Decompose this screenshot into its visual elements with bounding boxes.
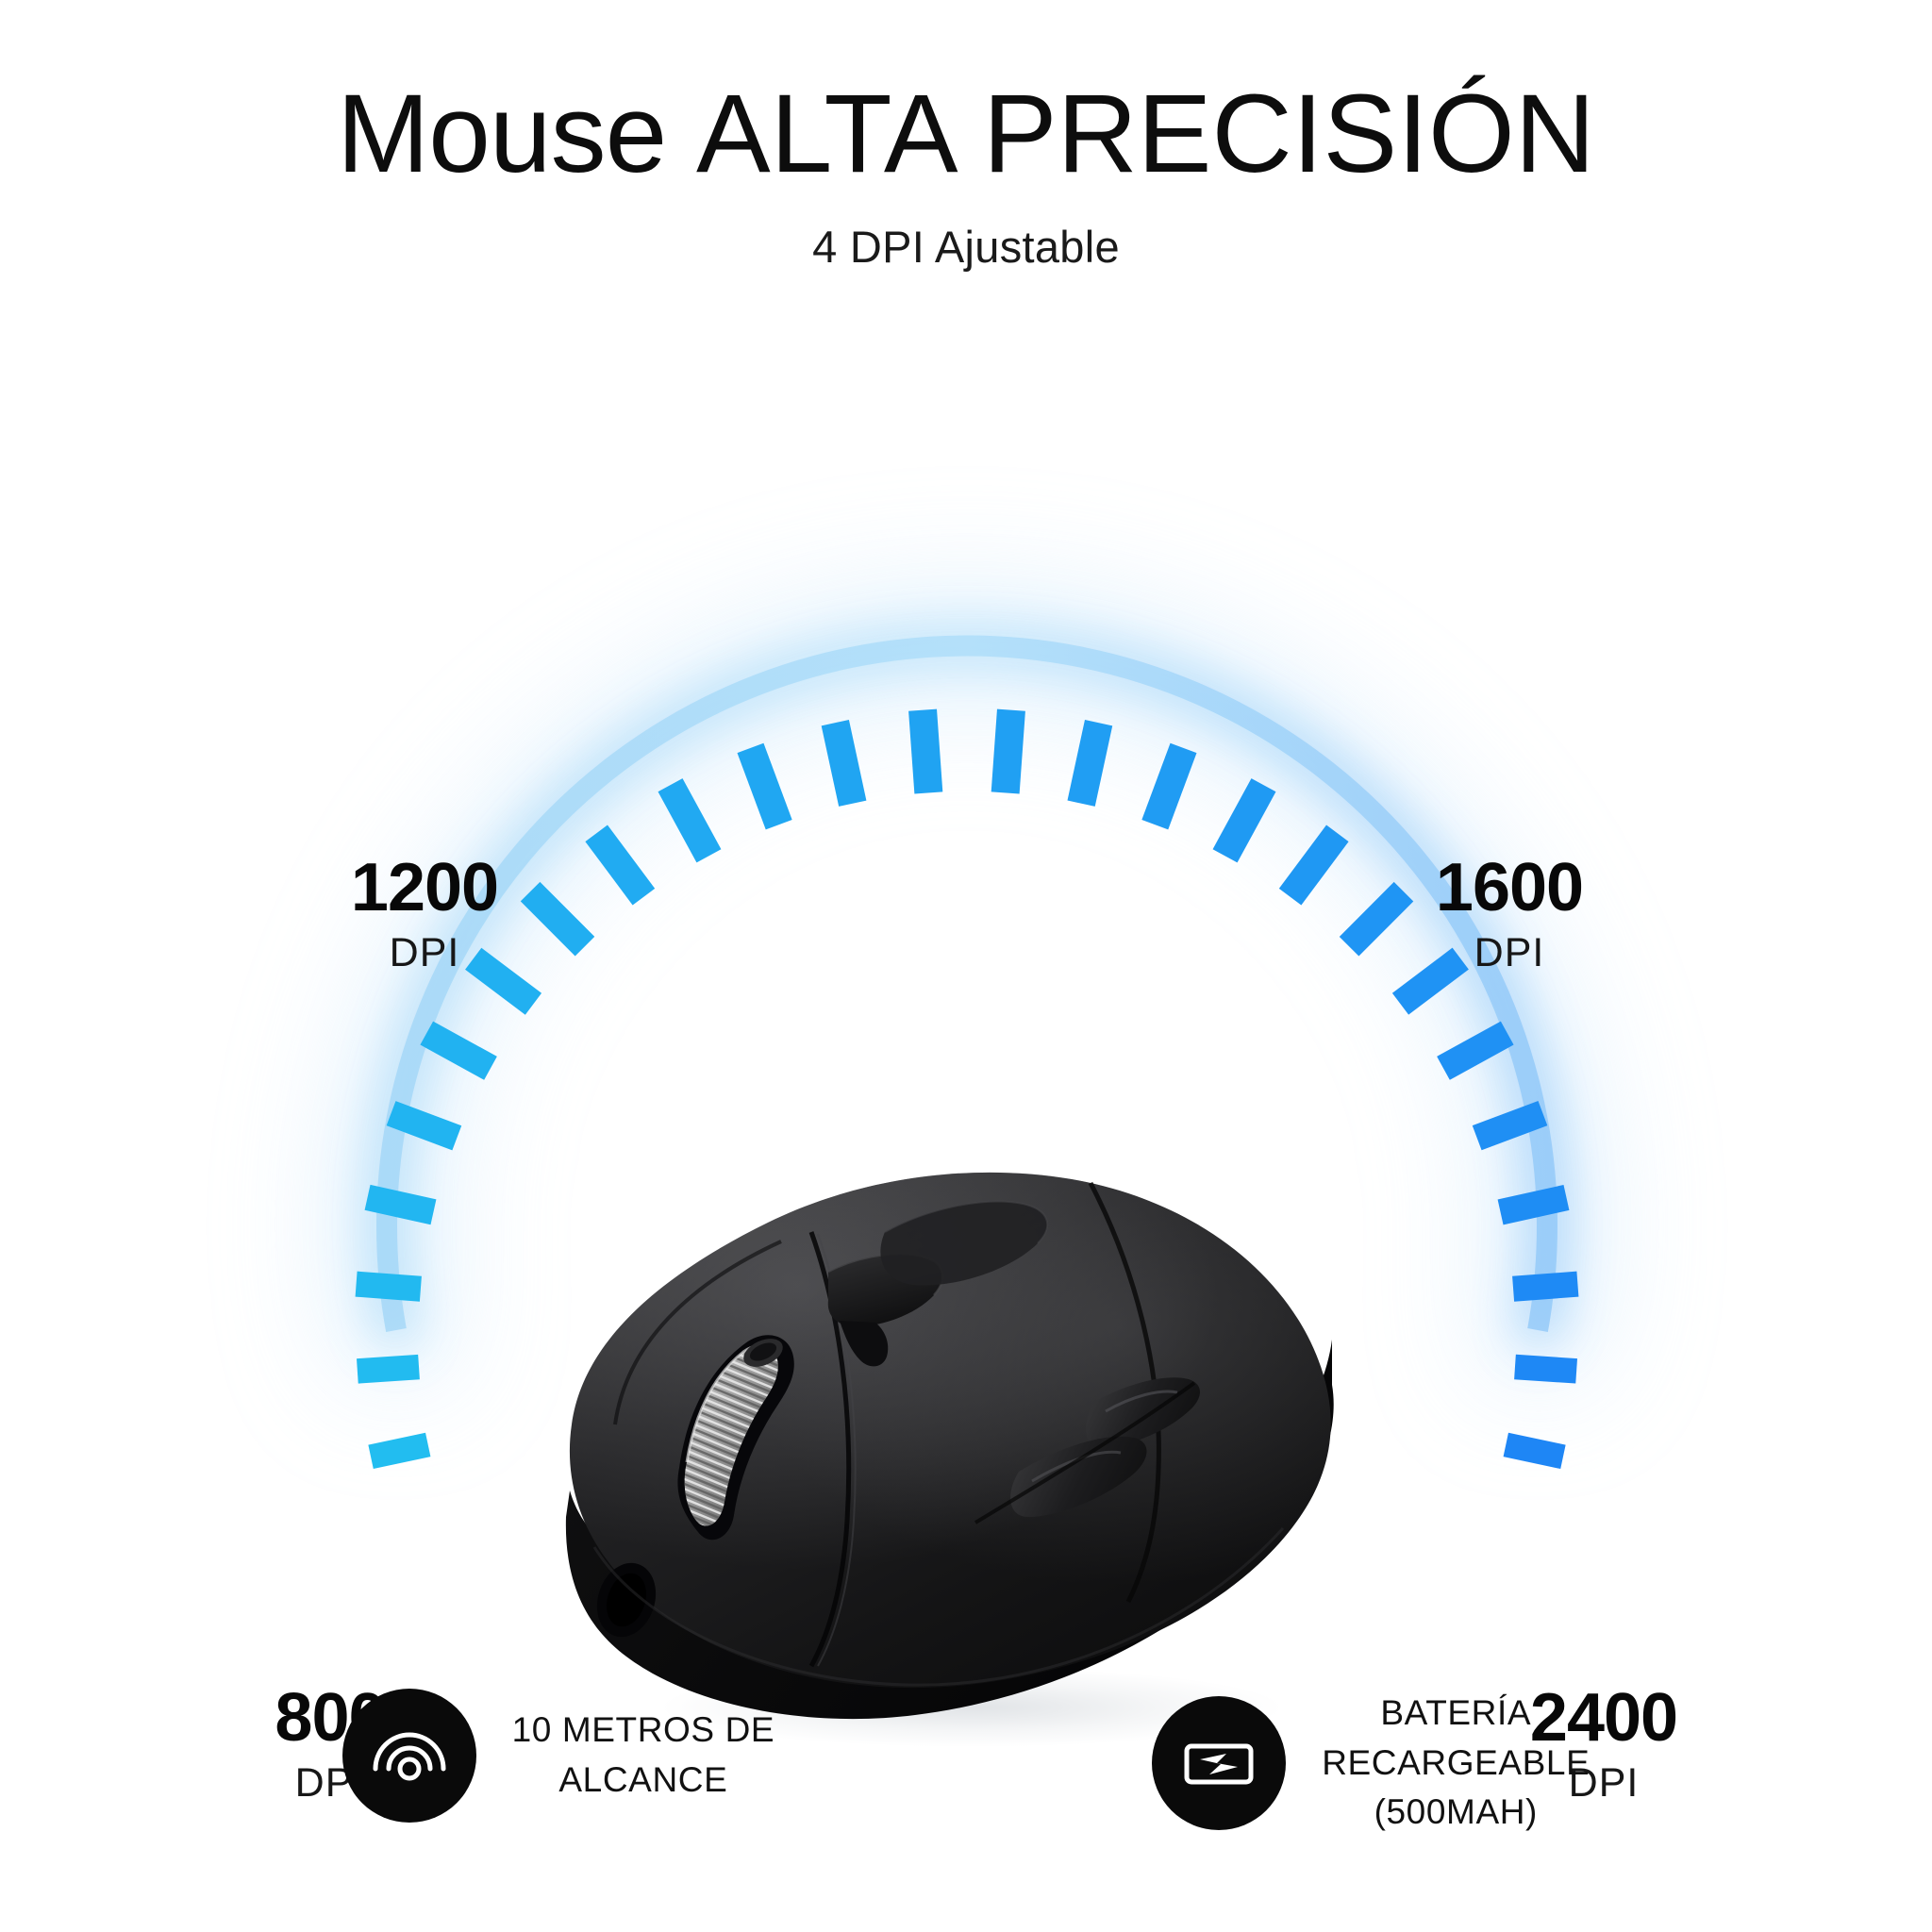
arc-tick-23 <box>1512 1272 1578 1302</box>
arc-tick-0 <box>368 1433 430 1469</box>
infographic-page: Mouse ALTA PRECISIÓN 4 DPI Ajustable <box>0 0 1932 1932</box>
feature-battery-text: BATERÍA RECARGEABLE (500MAH) <box>1322 1689 1590 1838</box>
arc-tick-1 <box>357 1355 420 1384</box>
feature-range: 10 METROS DE ALCANCE <box>342 1689 775 1823</box>
arc-tick-24 <box>1514 1355 1577 1384</box>
dpi-dial: 1200 DPI 1600 DPI 800 DPI 2400 DPI <box>0 311 1932 1594</box>
battery-bolt-icon <box>1152 1696 1286 1830</box>
mouse-illustration <box>528 1141 1415 1764</box>
page-title-light: Mouse <box>337 72 696 196</box>
arc-tick-11 <box>822 720 867 807</box>
header: Mouse ALTA PRECISIÓN 4 DPI Ajustable <box>0 72 1932 273</box>
dpi-value-1200: 1200 <box>311 854 538 922</box>
arc-tick-17 <box>1279 825 1349 906</box>
arc-tick-16 <box>1213 778 1276 862</box>
page-title-bold: ALTA PRECISIÓN <box>696 72 1595 196</box>
dpi-unit-1200: DPI <box>311 933 538 974</box>
arc-tick-9 <box>658 778 722 862</box>
arc-tick-15 <box>1141 743 1196 830</box>
feature-battery-line3: (500MAH) <box>1322 1788 1590 1838</box>
feature-range-line2: ALCANCE <box>512 1756 775 1806</box>
feature-range-line1: 10 METROS DE <box>512 1706 775 1756</box>
feature-battery: BATERÍA RECARGEABLE (500MAH) <box>1152 1689 1590 1838</box>
arc-tick-12 <box>908 709 942 794</box>
product-image-wireless-mouse <box>528 1141 1415 1764</box>
feature-battery-line1: BATERÍA <box>1322 1689 1590 1739</box>
dpi-value-1600: 1600 <box>1396 854 1623 922</box>
feature-range-text: 10 METROS DE ALCANCE <box>512 1706 775 1805</box>
dpi-label-1200: 1200 DPI <box>311 854 538 974</box>
arc-tick-25 <box>1504 1433 1566 1469</box>
page-title: Mouse ALTA PRECISIÓN <box>0 72 1932 196</box>
feature-badges: 10 METROS DE ALCANCE BATERÍA RECARGEABLE… <box>0 1689 1932 1906</box>
feature-battery-line2: RECARGEABLE <box>1322 1739 1590 1789</box>
arc-tick-10 <box>738 743 792 830</box>
dpi-label-1600: 1600 DPI <box>1396 854 1623 974</box>
arc-tick-8 <box>585 825 655 906</box>
wireless-signal-icon <box>342 1689 476 1823</box>
page-subtitle: 4 DPI Ajustable <box>0 221 1932 273</box>
arc-tick-2 <box>356 1272 422 1302</box>
arc-tick-13 <box>991 709 1025 794</box>
arc-tick-14 <box>1068 720 1113 807</box>
dpi-unit-1600: DPI <box>1396 933 1623 974</box>
